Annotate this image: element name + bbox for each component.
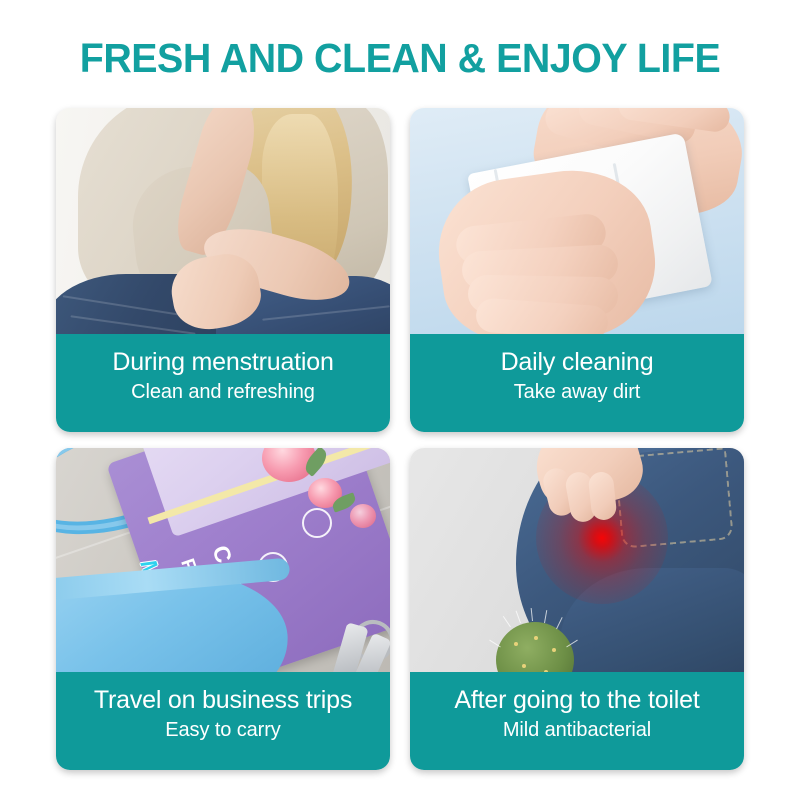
page-title: FRESH AND CLEAN & ENJOY LIFE: [16, 34, 784, 82]
photo-pack-in-handbag: Miasszi FEMININE CARE WIPES 40PCS: [56, 448, 390, 672]
caption-headline: After going to the toilet: [410, 684, 744, 716]
benefit-card-daily-cleaning[interactable]: Daily cleaning Take away dirt: [410, 108, 744, 432]
photo-hand-with-wipe: [410, 108, 744, 334]
photo-woman-seated: [56, 108, 390, 334]
benefit-card-grid: During menstruation Clean and refreshing…: [56, 108, 744, 770]
photo-jeans-pain-area: [410, 448, 744, 672]
benefit-card-travel[interactable]: Miasszi FEMININE CARE WIPES 40PCS Travel…: [56, 448, 390, 770]
benefit-card-during-menstruation[interactable]: During menstruation Clean and refreshing: [56, 108, 390, 432]
caption-headline: Daily cleaning: [410, 346, 744, 378]
caption-subtitle: Take away dirt: [410, 378, 744, 406]
rose-graphic: [350, 504, 376, 528]
caption-band: Daily cleaning Take away dirt: [410, 334, 744, 432]
package-seal-icon: [302, 508, 332, 538]
caption-band: Travel on business trips Easy to carry: [56, 672, 390, 770]
caption-headline: Travel on business trips: [56, 684, 390, 716]
caption-band: After going to the toilet Mild antibacte…: [410, 672, 744, 770]
caption-subtitle: Easy to carry: [56, 716, 390, 744]
caption-subtitle: Mild antibacterial: [410, 716, 744, 744]
benefit-card-after-toilet[interactable]: After going to the toilet Mild antibacte…: [410, 448, 744, 770]
caption-band: During menstruation Clean and refreshing: [56, 334, 390, 432]
caption-subtitle: Clean and refreshing: [56, 378, 390, 406]
caption-headline: During menstruation: [56, 346, 390, 378]
